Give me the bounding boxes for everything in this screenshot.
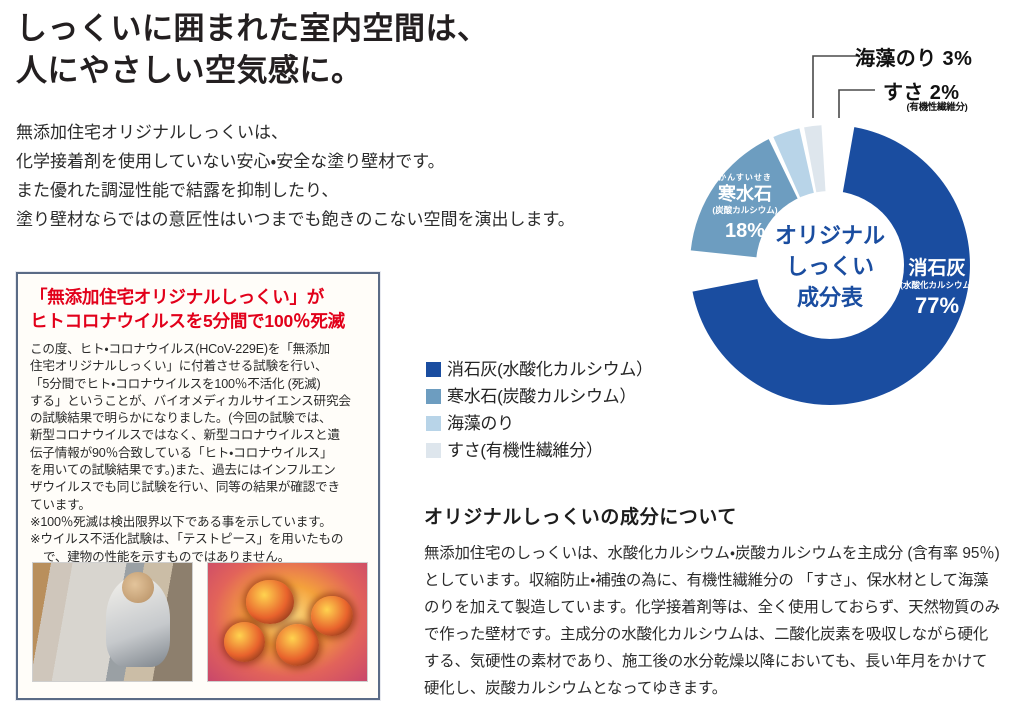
legend-swatch-icon — [426, 416, 441, 431]
corona-body-line: 住宅オリジナルしっくい」に付着させる試験を行い、 — [30, 358, 368, 375]
composition-line: で作った壁材です。主成分の水酸化カルシウムは、二酸化炭素を吸収しながら硬化 — [424, 621, 1024, 648]
corona-body-note: ※100％死滅は検出限界以下である事を示しています。 — [30, 514, 368, 531]
intro-line-4: 塗り壁材ならではの意匠性はいつまでも飽きのこない空間を演出します。 — [16, 205, 656, 234]
corona-body-line: 伝子情報が90％合致している「ヒト・コロナウイルス」 — [30, 445, 368, 462]
corona-photo-row — [32, 562, 368, 682]
kansuiseki-sub: (炭酸カルシウム) — [712, 205, 777, 215]
kansuiseki-name: 寒水石 — [717, 183, 772, 204]
center-label-line-2: しっくい — [786, 254, 874, 279]
corona-body-line: 新型コロナウイルスではなく、新型コロナウイルスと遺 — [30, 427, 368, 444]
shousekkai-value: 77% — [915, 293, 959, 318]
center-label-line-1: オリジナル — [775, 223, 885, 248]
leader-line-susa — [839, 90, 875, 118]
corona-body-line: 「5分間でヒト・コロナウイルスを100％不活化 (死滅) — [30, 376, 368, 393]
shousekkai-name: 消石灰 — [908, 256, 965, 279]
corona-panel-title: 「無添加住宅オリジナルしっくい」が ヒトコロナウイルスを5分間で100％死滅 — [30, 285, 368, 333]
corona-body-line: の試験結果で明らかになりました。(今回の試験では、 — [30, 410, 368, 427]
legend-swatch-icon — [426, 443, 441, 458]
virus-particle-icon — [276, 624, 319, 665]
virus-particle-icon — [311, 596, 352, 636]
headline-line-1: しっくいに囲まれた室内空間は、 — [16, 8, 646, 50]
composition-body: 無添加住宅のしっくいは、水酸化カルシウム・炭酸カルシウムを主成分 (含有率 95… — [424, 540, 1024, 702]
legend-item-susa: すさ(有機性繊維分） — [426, 437, 696, 464]
corona-test-panel: 「無添加住宅オリジナルしっくい」が ヒトコロナウイルスを5分間で100％死滅 こ… — [16, 272, 380, 700]
legend-swatch-icon — [426, 362, 441, 377]
lab-technician-photo — [32, 562, 193, 682]
corona-title-line-1: 「無添加住宅オリジナルしっくい」が — [30, 285, 368, 309]
leader-line-kaisonori — [813, 56, 858, 118]
legend-item-kansuiseki: 寒水石(炭酸カルシウム） — [426, 383, 696, 410]
center-label-line-3: 成分表 — [797, 285, 864, 310]
intro-line-2: 化学接着剤を使用していない安心・安全な塗り壁材です。 — [16, 147, 656, 176]
legend-label: 寒水石(炭酸カルシウム） — [447, 386, 636, 408]
composition-line: としています。収縮防止・補強の為に、有機性繊維分の 「すさ」、保水材として海藻 — [424, 567, 1024, 594]
page-headline: しっくいに囲まれた室内空間は、 人にやさしい空気感に。 — [16, 8, 646, 92]
intro-line-3: また優れた調湿性能で結露を抑制したり、 — [16, 176, 656, 205]
composition-heading: オリジナルしっくいの成分について — [424, 502, 737, 529]
callout-sublabel-susa: (有機性繊維分) — [883, 99, 991, 113]
corona-panel-body: この度、ヒト・コロナウイルス(HCoV-229E)を「無添加 住宅オリジナルしっ… — [30, 341, 368, 566]
composition-line: 硬化し、炭酸カルシウムとなってゆきます。 — [424, 675, 1024, 702]
composition-line: 無添加住宅のしっくいは、水酸化カルシウム・炭酸カルシウムを主成分 (含有率 95… — [424, 540, 1024, 567]
legend-label: すさ(有機性繊維分） — [447, 440, 603, 462]
virus-particle-icon — [246, 580, 294, 625]
corona-body-line: ザウイルスでも同じ試験を行い、同等の結果が確認でき — [30, 479, 368, 496]
corona-body-line: する」ということが、バイオメディカルサイエンス研究会 — [30, 393, 368, 410]
kansuiseki-ruby: かんすいせき — [718, 173, 772, 182]
virus-particles-photo — [207, 562, 368, 682]
legend-item-kaisonori: 海藻のり — [426, 410, 696, 437]
corona-title-line-2: ヒトコロナウイルスを5分間で100％死滅 — [30, 309, 368, 333]
corona-body-line: を用いての試験結果です。)また、過去にはインフルエン — [30, 462, 368, 479]
corona-body-note: ※ウイルス不活化試験は、「テストピース」を用いたもの — [30, 531, 368, 548]
callout-label-kaisonori: 海藻のり 3% — [855, 42, 972, 71]
corona-body-line: ています。 — [30, 497, 368, 514]
intro-paragraph: 無添加住宅オリジナルしっくいは、 化学接着剤を使用していない安心・安全な塗り壁材… — [16, 118, 656, 234]
virus-particle-icon — [224, 622, 265, 662]
legend-label: 海藻のり — [447, 413, 514, 435]
composition-line: のりを加えて製造しています。化学接着剤等は、全く使用しておらず、天然物質のみ — [424, 594, 1024, 621]
intro-line-1: 無添加住宅オリジナルしっくいは、 — [16, 118, 656, 147]
legend-label: 消石灰(水酸化カルシウム） — [447, 359, 653, 381]
shousekkai-sub: (水酸化カルシウム) — [900, 280, 974, 290]
legend-item-shousekkai: 消石灰(水酸化カルシウム） — [426, 356, 696, 383]
legend-swatch-icon — [426, 389, 441, 404]
composition-donut-chart: オリジナル しっくい 成分表 かんすいせき 寒水石 (炭酸カルシウム) 18% … — [660, 18, 1031, 428]
headline-line-2: 人にやさしい空気感に。 — [16, 50, 646, 92]
chart-legend: 消石灰(水酸化カルシウム） 寒水石(炭酸カルシウム） 海藻のり すさ(有機性繊維… — [426, 356, 696, 464]
composition-line: する、気硬性の素材であり、施工後の水分乾燥以降においても、長い年月をかけて — [424, 648, 1024, 675]
corona-body-line: この度、ヒト・コロナウイルス(HCoV-229E)を「無添加 — [30, 341, 368, 358]
kansuiseki-value: 18% — [725, 220, 765, 242]
donut-chart-svg: オリジナル しっくい 成分表 かんすいせき 寒水石 (炭酸カルシウム) 18% … — [660, 18, 1031, 428]
